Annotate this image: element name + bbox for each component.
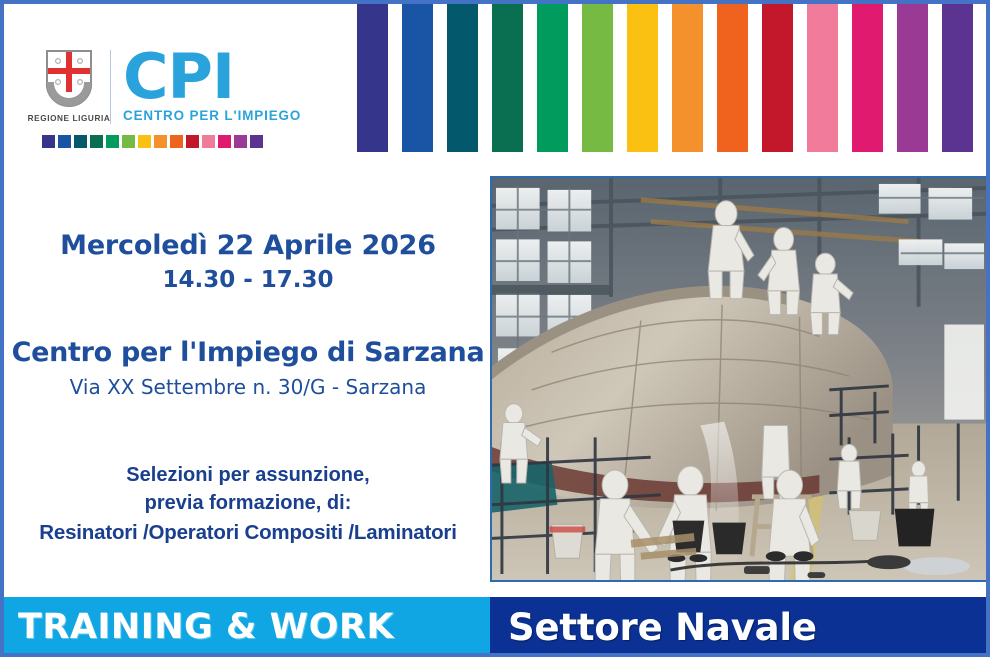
logo-swatch-3	[74, 135, 87, 148]
logo-swatch-10	[186, 135, 199, 148]
logo-palette-swatches	[42, 135, 301, 148]
poster: REGIONE LIGURIA CPI CENTRO PER L'IMPIEGO…	[0, 0, 990, 657]
header-color-bar-9	[717, 4, 748, 152]
header-color-bar-6	[582, 4, 613, 152]
banner-training-work: TRAINING & WORK	[4, 597, 490, 657]
event-date: Mercoledì 22 Aprile 2026	[8, 174, 488, 261]
logo-swatch-6	[122, 135, 135, 148]
logo-swatch-4	[90, 135, 103, 148]
header-color-bar-12	[852, 4, 883, 152]
header-color-bar-1	[357, 4, 388, 152]
banner-settore-navale: Settore Navale	[490, 597, 990, 657]
header-color-bar-4	[492, 4, 523, 152]
regione-liguria-label: REGIONE LIGURIA	[28, 114, 111, 123]
regione-liguria-logo: REGIONE LIGURIA	[38, 48, 100, 123]
event-venue: Centro per l'Impiego di Sarzana	[8, 337, 488, 368]
cpi-tagline: CENTRO PER L'IMPIEGO	[123, 108, 301, 123]
logo-swatch-7	[138, 135, 151, 148]
header-color-bar-3	[447, 4, 478, 152]
bottom-banner: TRAINING & WORK Settore Navale	[4, 597, 990, 657]
cpi-logo: REGIONE LIGURIA CPI CENTRO PER L'IMPIEGO	[38, 48, 301, 148]
event-address: Via XX Settembre n. 30/G - Sarzana	[8, 375, 488, 399]
event-note-line-1: Selezioni per assunzione,	[8, 463, 488, 487]
event-note: Selezioni per assunzione, previa formazi…	[8, 463, 488, 545]
header-color-bar-7	[627, 4, 658, 152]
header-color-bar-8	[672, 4, 703, 152]
logo-swatch-13	[234, 135, 247, 148]
cpi-acronym: CPI	[123, 48, 301, 105]
header-color-bar-10	[762, 4, 793, 152]
shipyard-scene-illustration	[492, 178, 988, 580]
header-color-bar-5	[537, 4, 568, 152]
banner-settore-navale-label: Settore Navale	[508, 606, 817, 649]
shipyard-workers-photo	[490, 176, 990, 582]
event-details: Mercoledì 22 Aprile 2026 14.30 - 17.30 C…	[8, 174, 488, 549]
logo-row: REGIONE LIGURIA CPI CENTRO PER L'IMPIEGO	[38, 48, 301, 124]
logo-divider	[110, 50, 111, 124]
event-note-line-2: previa formazione, di:	[8, 491, 488, 515]
logo-swatch-5	[106, 135, 119, 148]
header-color-bars	[357, 4, 973, 152]
logo-swatch-12	[218, 135, 231, 148]
banner-bottom-rule	[4, 653, 990, 657]
logo-swatch-1	[42, 135, 55, 148]
event-time: 14.30 - 17.30	[8, 267, 488, 293]
logo-swatch-14	[250, 135, 263, 148]
logo-swatch-9	[170, 135, 183, 148]
regione-liguria-shield-icon	[43, 48, 95, 110]
cpi-wordmark: CPI CENTRO PER L'IMPIEGO	[123, 48, 301, 123]
logo-swatch-8	[154, 135, 167, 148]
header-color-bar-14	[942, 4, 973, 152]
logo-swatch-11	[202, 135, 215, 148]
poster-header: REGIONE LIGURIA CPI CENTRO PER L'IMPIEGO	[4, 4, 990, 162]
banner-training-work-label: TRAINING & WORK	[18, 607, 394, 647]
header-color-bar-2	[402, 4, 433, 152]
logo-swatch-2	[58, 135, 71, 148]
header-color-bar-11	[807, 4, 838, 152]
event-note-line-3: Resinatori /Operatori Compositi /Laminat…	[8, 520, 488, 545]
header-color-bar-13	[897, 4, 928, 152]
